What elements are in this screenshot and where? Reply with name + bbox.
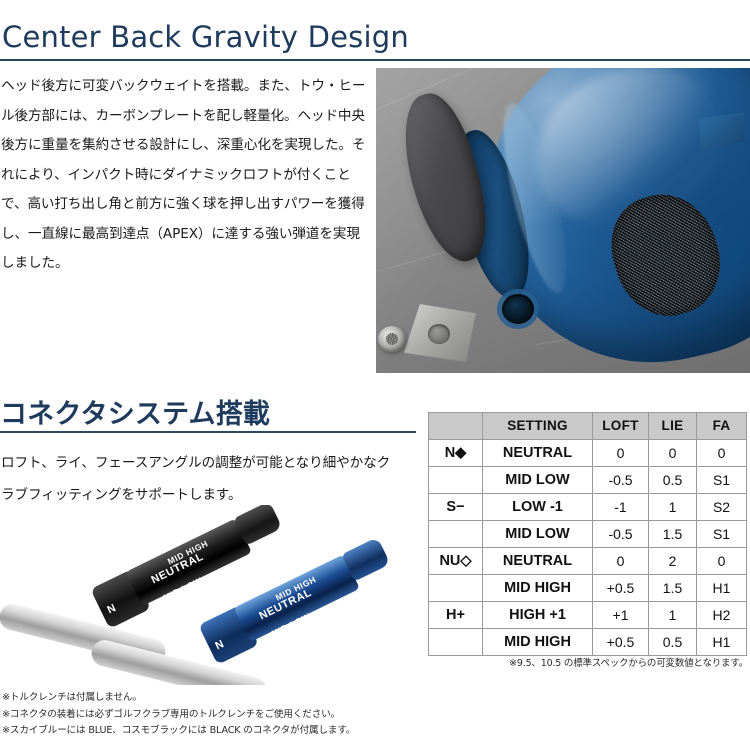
cell-fa: 0 (697, 440, 747, 467)
column-header-lie: LIE (649, 413, 697, 440)
cell-setting: NEUTRAL (483, 548, 593, 575)
connector-heading-divider (0, 431, 416, 433)
weight-screw (378, 326, 406, 352)
cell-lie: 1 (649, 602, 697, 629)
connector-blue: NEUTRAL MID HIGH MID LOW N (152, 545, 420, 685)
cell-loft: -0.5 (593, 467, 649, 494)
cell-setting: HIGH +1 (483, 602, 593, 629)
page-footnotes: ※トルクレンチは付属しません。※コネクタの装着には必ずゴルフクラブ専用のトルクレ… (2, 690, 432, 740)
back-weight-bracket-hole (428, 324, 450, 344)
cell-lie: 0.5 (649, 629, 697, 656)
cell-loft: +0.5 (593, 629, 649, 656)
cell-code (429, 467, 483, 494)
cell-fa: S1 (697, 521, 747, 548)
driver-head-render-image (376, 68, 750, 373)
cell-fa: 0 (697, 548, 747, 575)
table-row: H+HIGH +1+11H2 (429, 602, 747, 629)
cell-lie: 2 (649, 548, 697, 575)
cell-loft: -1 (593, 494, 649, 521)
cell-loft: +0.5 (593, 575, 649, 602)
table-row: NU◇NEUTRAL020 (429, 548, 747, 575)
cell-loft: +1 (593, 602, 649, 629)
table-row: N◆NEUTRAL000 (429, 440, 747, 467)
connector-photo: NEUTRAL MID HIGH MID LOW N NEUTRAL MID H… (0, 505, 420, 685)
cell-fa: S2 (697, 494, 747, 521)
back-weight-port (502, 294, 534, 324)
column-header-fa: FA (697, 413, 747, 440)
cell-lie: 0.5 (649, 467, 697, 494)
cell-code: N◆ (429, 440, 483, 467)
cell-setting: NEUTRAL (483, 440, 593, 467)
cell-code: NU◇ (429, 548, 483, 575)
loft-lie-settings-table: SETTING LOFT LIE FA N◆NEUTRAL000MID LOW-… (428, 412, 747, 656)
cell-code (429, 575, 483, 602)
cell-code (429, 521, 483, 548)
gravity-section-body: ヘッド後方に可変バックウェイトを搭載。また、トウ・ヒール後方部には、カーボンプレ… (1, 72, 373, 279)
gravity-heading-divider (0, 59, 750, 61)
cell-lie: 0 (649, 440, 697, 467)
cell-fa: H2 (697, 602, 747, 629)
cell-fa: S1 (697, 467, 747, 494)
cell-lie: 1.5 (649, 521, 697, 548)
cell-loft: -0.5 (593, 521, 649, 548)
footnote-line: ※スカイブルーには BLUE、コスモブラックには BLACK のコネクタが付属し… (2, 723, 432, 740)
table-body: N◆NEUTRAL000MID LOW-0.50.5S1S−LOW -1-11S… (429, 440, 747, 656)
cell-setting: LOW -1 (483, 494, 593, 521)
table-header-row: SETTING LOFT LIE FA (429, 413, 747, 440)
cell-loft: 0 (593, 440, 649, 467)
table-row: S−LOW -1-11S2 (429, 494, 747, 521)
table-row: MID HIGH+0.50.5H1 (429, 629, 747, 656)
gravity-section-heading: Center Back Gravity Design (2, 20, 409, 54)
cell-setting: MID HIGH (483, 629, 593, 656)
column-header-code (429, 413, 483, 440)
table-row: MID HIGH+0.51.5H1 (429, 575, 747, 602)
cell-code: S− (429, 494, 483, 521)
table-row: MID LOW-0.50.5S1 (429, 467, 747, 494)
table-footnote: ※9.5、10.5 の標準スペックからの可変数値となります。 (428, 655, 748, 669)
cell-fa: H1 (697, 575, 747, 602)
cell-loft: 0 (593, 548, 649, 575)
cell-lie: 1 (649, 494, 697, 521)
cell-setting: MID LOW (483, 467, 593, 494)
cell-fa: H1 (697, 629, 747, 656)
cell-code (429, 629, 483, 656)
footnote-line: ※コネクタの装着には必ずゴルフクラブ専用のトルクレンチをご使用ください。 (2, 707, 432, 724)
cell-lie: 1.5 (649, 575, 697, 602)
cell-code: H+ (429, 602, 483, 629)
column-header-setting: SETTING (483, 413, 593, 440)
connector-section-heading: コネクタシステム搭載 (0, 392, 270, 431)
cell-setting: MID LOW (483, 521, 593, 548)
column-header-loft: LOFT (593, 413, 649, 440)
footnote-line: ※トルクレンチは付属しません。 (2, 690, 432, 707)
table-row: MID LOW-0.51.5S1 (429, 521, 747, 548)
connector-section-body: ロフト、ライ、フェースアングルの調整が可能となり細やかなクラブフィッティングをサ… (1, 447, 401, 511)
product-info-page: Center Back Gravity Design ヘッド後方に可変バックウェ… (0, 0, 750, 750)
cell-setting: MID HIGH (483, 575, 593, 602)
